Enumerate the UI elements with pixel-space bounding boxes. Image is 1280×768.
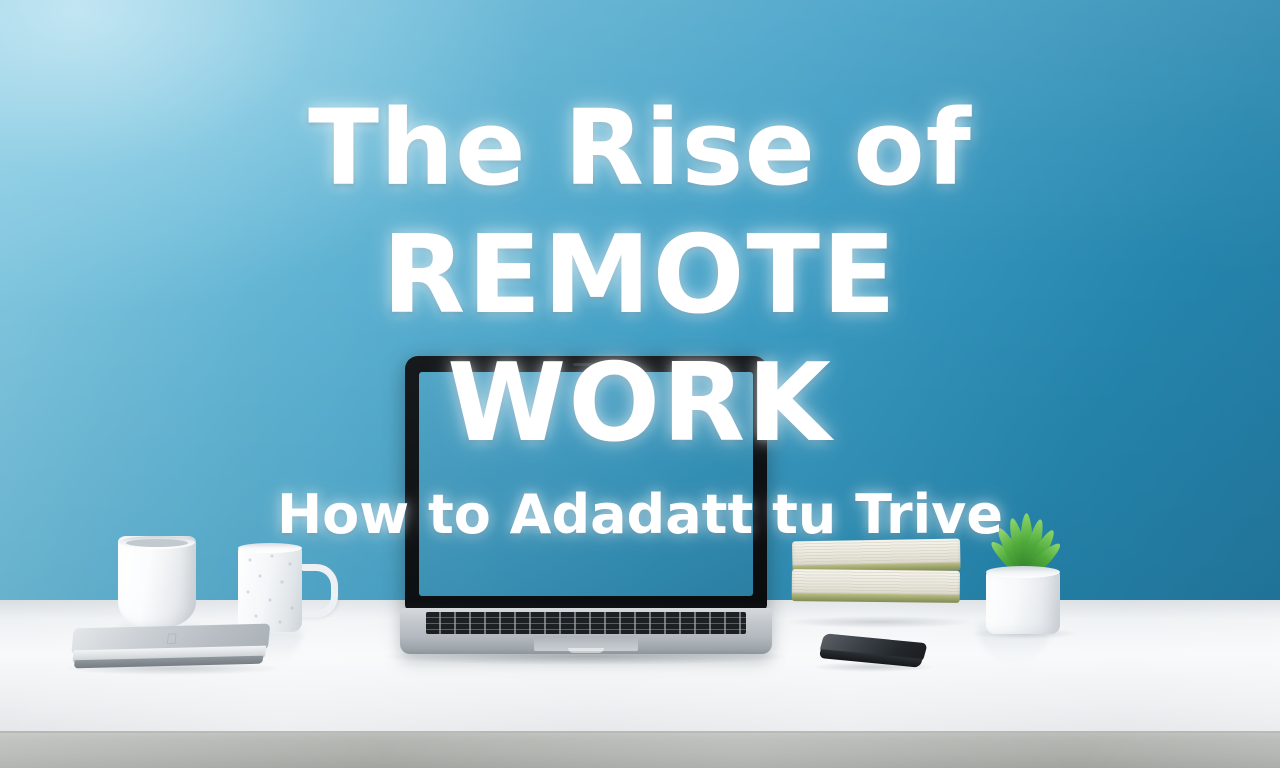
laptop-keyboard xyxy=(426,612,746,634)
book-stack xyxy=(792,540,960,622)
laptop-screen xyxy=(419,372,753,596)
mug-body xyxy=(238,546,302,632)
patterned-mug xyxy=(238,546,302,632)
mug-rim-inner xyxy=(126,539,188,547)
laptop-lid-notch xyxy=(568,648,604,653)
mug-body xyxy=(118,536,196,628)
book-cover xyxy=(792,593,960,603)
pot-rim xyxy=(986,566,1060,578)
poster-image:  xyxy=(0,0,1280,768)
open-laptop xyxy=(400,356,772,656)
webcam-icon xyxy=(573,363,599,366)
potted-plant xyxy=(976,508,1070,634)
closed-laptop:  xyxy=(70,624,271,671)
laptop-lid xyxy=(405,356,767,610)
desk-front-edge xyxy=(0,733,1280,768)
mug-handle xyxy=(296,564,338,618)
plain-mug xyxy=(118,536,196,628)
mug-rim xyxy=(238,543,302,553)
apple-logo-icon:  xyxy=(164,632,180,648)
plant-pot xyxy=(986,570,1060,634)
